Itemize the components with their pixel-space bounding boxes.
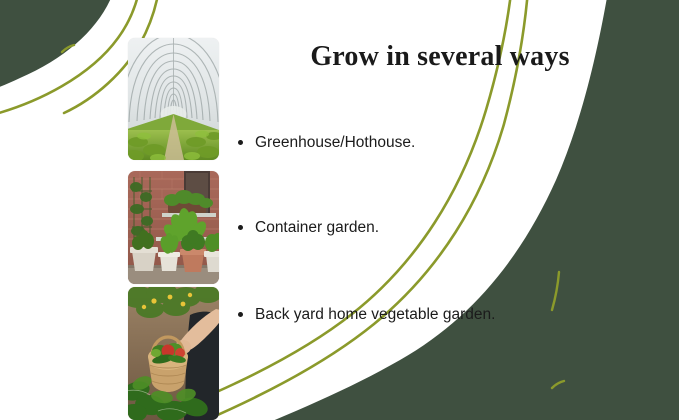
bullet-dot-icon	[238, 140, 243, 145]
list-item-label: Container garden.	[255, 216, 568, 240]
page-title: Grow in several ways	[240, 40, 640, 73]
greenhouse-tunnel-photo	[128, 38, 219, 160]
list-item: Greenhouse/Hothouse.	[238, 131, 568, 155]
bullet-dot-icon	[238, 312, 243, 317]
vegetable-harvest-photo	[128, 287, 219, 420]
slide-canvas: Grow in several ways	[0, 0, 679, 420]
bullet-dot-icon	[238, 225, 243, 230]
list-item: Container garden.	[238, 216, 568, 240]
list-item: Back yard home vegetable garden.	[238, 303, 568, 327]
slide-content: Grow in several ways	[0, 0, 679, 420]
container-garden-photo	[128, 171, 219, 284]
list-item-label: Back yard home vegetable garden.	[255, 303, 568, 327]
list-item-label: Greenhouse/Hothouse.	[255, 131, 568, 155]
